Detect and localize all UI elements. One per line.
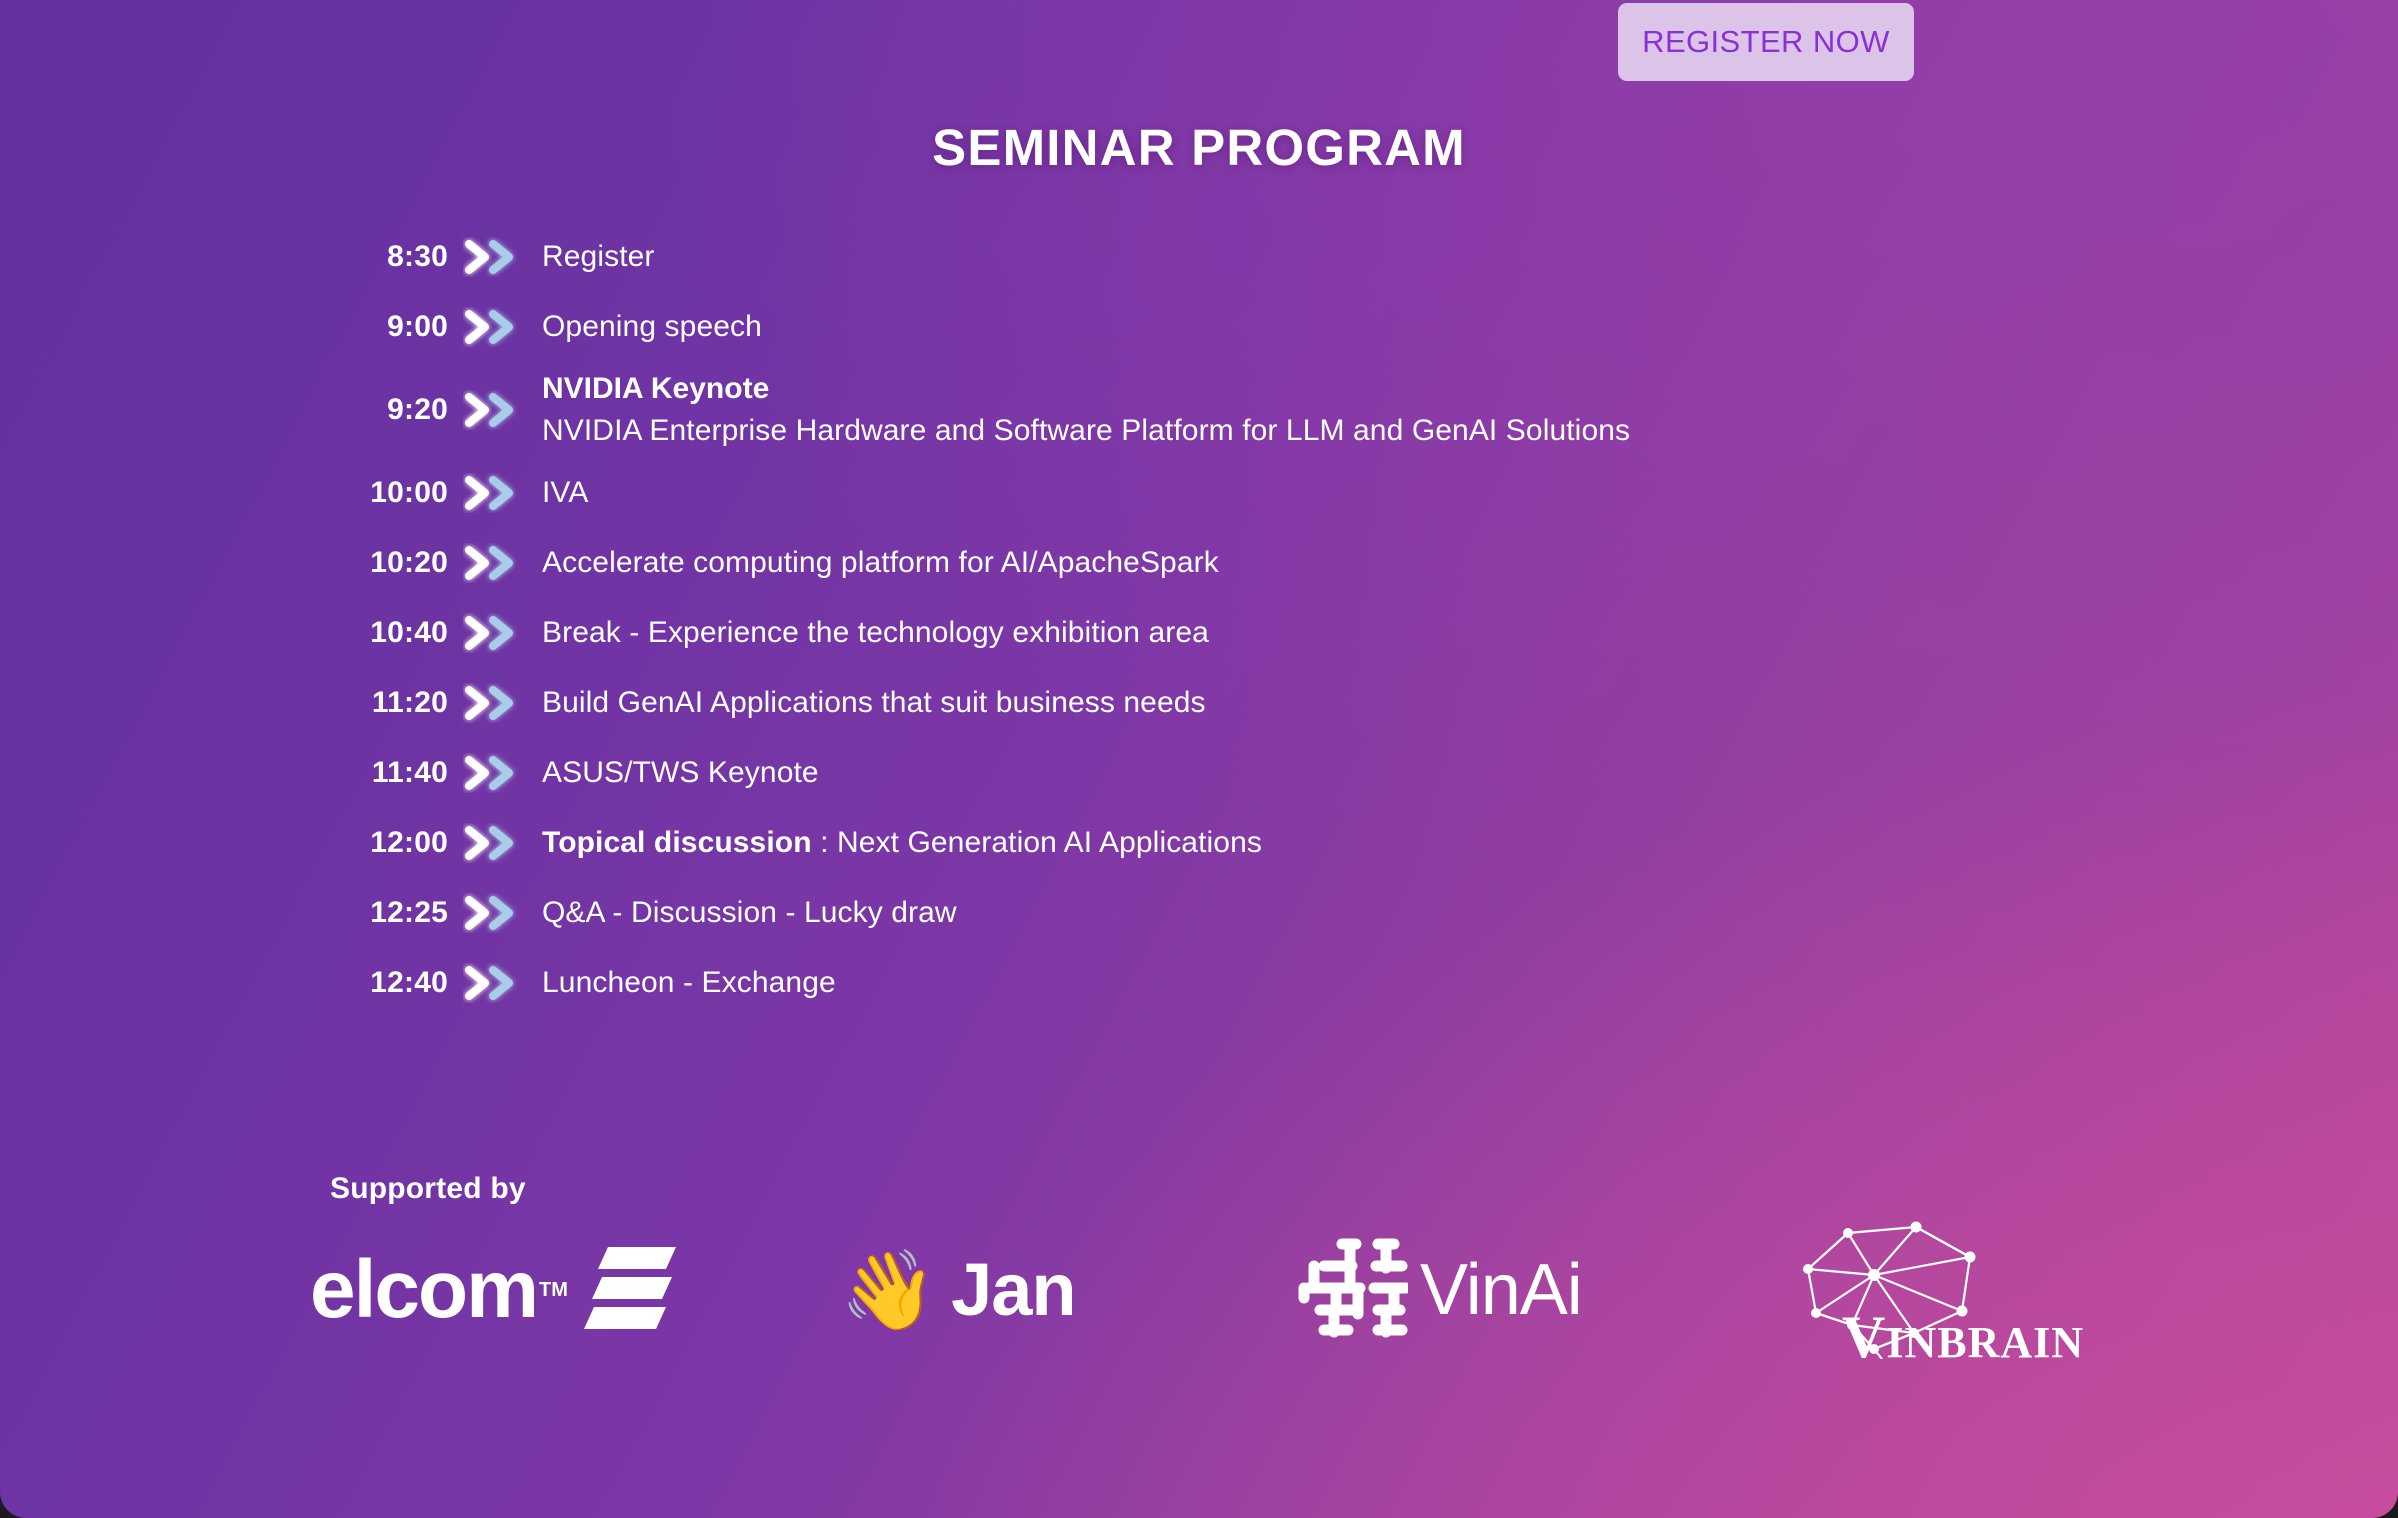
double-chevron-right-icon xyxy=(448,307,536,347)
double-chevron-right-icon xyxy=(448,473,536,513)
schedule-time: 11:20 xyxy=(330,686,448,720)
seminar-program-page: REGISTER NOW SEMINAR PROGRAM 8:30 Regist… xyxy=(0,0,2398,1518)
schedule-list: 8:30 Register9:00 Op xyxy=(330,222,2030,1018)
schedule-time: 9:00 xyxy=(330,310,448,344)
schedule-row: 11:40 ASUS/TWS Keynote xyxy=(330,738,2030,808)
schedule-item-text: NVIDIA Enterprise Hardware and Software … xyxy=(542,411,2030,451)
schedule-time: 11:40 xyxy=(330,756,448,790)
schedule-row: 11:20 Build GenAI Applications that suit… xyxy=(330,668,2030,738)
double-chevron-right-icon xyxy=(448,823,536,863)
schedule-body: Register xyxy=(536,237,2030,277)
schedule-row: 12:40 Luncheon - Exchange xyxy=(330,948,2030,1018)
schedule-item-text: Luncheon - Exchange xyxy=(542,963,2030,1003)
schedule-item-text: Topical discussion : Next Generation AI … xyxy=(542,823,2030,863)
schedule-time: 8:30 xyxy=(330,240,448,274)
double-chevron-right-icon xyxy=(448,543,536,583)
sponsor-logo-vinai[interactable]: VinAi xyxy=(1270,1215,1740,1365)
schedule-item-text: Break - Experience the technology exhibi… xyxy=(542,613,2030,653)
schedule-row: 10:20 Accelerate computing platform for … xyxy=(330,528,2030,598)
vinbrain-wordmark: VINBRAIN xyxy=(1842,1307,2084,1367)
schedule-item-text: Opening speech xyxy=(542,307,2030,347)
schedule-item-text: Q&A - Discussion - Lucky draw xyxy=(542,893,2030,933)
double-chevron-right-icon xyxy=(448,683,536,723)
vinai-wordmark: VinAi xyxy=(1420,1254,1582,1326)
schedule-row: 9:00 Opening speech xyxy=(330,292,2030,362)
register-now-button[interactable]: REGISTER NOW xyxy=(1618,3,1914,81)
schedule-item-text: Accelerate computing platform for AI/Apa… xyxy=(542,543,2030,583)
schedule-time: 12:40 xyxy=(330,966,448,1000)
schedule-item-text-rest: : Next Generation AI Applications xyxy=(812,826,1262,859)
vinbrain-initial: V xyxy=(1842,1304,1886,1370)
elcom-e-mark-icon xyxy=(582,1245,678,1336)
schedule-item-text: Register xyxy=(542,237,2030,277)
schedule-item-text: IVA xyxy=(542,473,2030,513)
schedule-time: 9:20 xyxy=(330,393,448,427)
schedule-body: Build GenAI Applications that suit busin… xyxy=(536,683,2030,723)
schedule-body: IVA xyxy=(536,473,2030,513)
schedule-body: Topical discussion : Next Generation AI … xyxy=(536,823,2030,863)
schedule-time: 10:20 xyxy=(330,546,448,580)
sponsor-logo-strip: elcom TM 👋 Jan xyxy=(300,1215,2130,1365)
schedule-body: Opening speech xyxy=(536,307,2030,347)
double-chevron-right-icon xyxy=(448,893,536,933)
schedule-time: 10:00 xyxy=(330,476,448,510)
schedule-body: Accelerate computing platform for AI/Apa… xyxy=(536,543,2030,583)
vinai-circuit-mark-icon xyxy=(1290,1232,1408,1349)
elcom-wordmark: elcom xyxy=(310,1249,537,1331)
schedule-row: 8:30 Register xyxy=(330,222,2030,292)
schedule-row: 12:25 Q&A - Discussion - Lucky draw xyxy=(330,878,2030,948)
schedule-body: Break - Experience the technology exhibi… xyxy=(536,613,2030,653)
schedule-row: 10:40 Break - Experience the technology … xyxy=(330,598,2030,668)
sponsor-logo-elcom[interactable]: elcom TM xyxy=(300,1215,800,1365)
vinbrain-rest: INBRAIN xyxy=(1886,1318,2084,1367)
waving-hand-icon: 👋 xyxy=(840,1251,937,1329)
schedule-time: 12:00 xyxy=(330,826,448,860)
sponsor-logo-jan[interactable]: 👋 Jan xyxy=(800,1215,1270,1365)
double-chevron-right-icon xyxy=(448,613,536,653)
schedule-body: Luncheon - Exchange xyxy=(536,963,2030,1003)
schedule-row: 10:00 IVA xyxy=(330,458,2030,528)
sponsor-logo-vinbrain[interactable]: VINBRAIN xyxy=(1740,1215,2130,1365)
schedule-time: 10:40 xyxy=(330,616,448,650)
schedule-body: NVIDIA KeynoteNVIDIA Enterprise Hardware… xyxy=(536,369,2030,451)
double-chevron-right-icon xyxy=(448,753,536,793)
schedule-item-text: Build GenAI Applications that suit busin… xyxy=(542,683,2030,723)
supported-by-label: Supported by xyxy=(330,1172,526,1206)
schedule-body: Q&A - Discussion - Lucky draw xyxy=(536,893,2030,933)
double-chevron-right-icon xyxy=(448,390,536,430)
schedule-item-title: NVIDIA Keynote xyxy=(542,369,2030,408)
page-title: SEMINAR PROGRAM xyxy=(0,118,2398,177)
jan-wordmark: Jan xyxy=(951,1253,1076,1327)
double-chevron-right-icon xyxy=(448,237,536,277)
double-chevron-right-icon xyxy=(448,963,536,1003)
schedule-item-text-emphasis: Topical discussion xyxy=(542,826,812,859)
schedule-row: 9:20 NVIDIA KeynoteNVIDIA Enterprise Har… xyxy=(330,362,2030,458)
schedule-item-text: ASUS/TWS Keynote xyxy=(542,753,2030,793)
schedule-body: ASUS/TWS Keynote xyxy=(536,753,2030,793)
schedule-row: 12:00 Topical discussion : Next Generati… xyxy=(330,808,2030,878)
schedule-time: 12:25 xyxy=(330,896,448,930)
elcom-trademark-symbol: TM xyxy=(539,1279,568,1302)
